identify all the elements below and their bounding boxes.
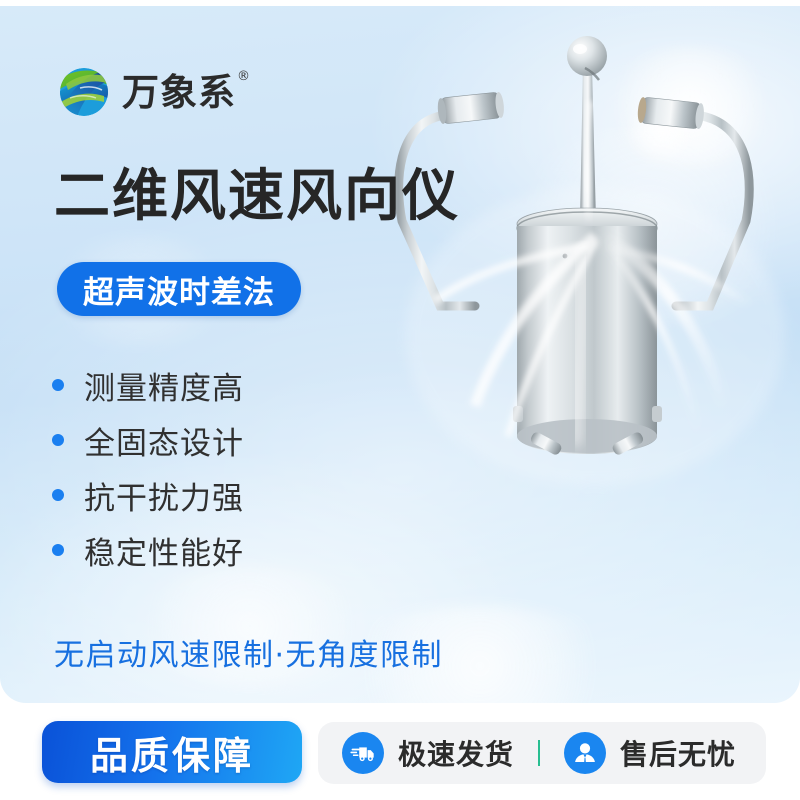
right-transducer	[637, 97, 705, 130]
product-image	[380, 6, 800, 703]
tagline: 无启动风速限制·无角度限制	[54, 630, 443, 674]
dot-icon	[52, 379, 64, 391]
service-label: 极速发货	[398, 733, 514, 773]
dot-icon	[52, 489, 64, 501]
delivery-truck-icon	[342, 732, 384, 774]
anemometer-illustration	[380, 6, 800, 703]
list-item: 测量精度高	[52, 364, 244, 406]
service-item-shipping[interactable]: 极速发货	[318, 732, 538, 774]
feature-label: 稳定性能好	[84, 528, 244, 573]
list-item: 抗干扰力强	[52, 474, 244, 516]
page-title: 二维风速风向仪	[54, 166, 460, 228]
divider	[538, 740, 540, 766]
brand-name: 万象系	[122, 71, 236, 114]
service-label: 售后无忧	[620, 733, 736, 773]
feature-label: 测量精度高	[84, 363, 244, 408]
feature-list: 测量精度高 全固态设计 抗干扰力强 稳定性能好	[52, 364, 244, 571]
product-banner: 万象系 ® 二维风速风向仪 超声波时差法 测量精度高 全固态设计 抗干扰力强	[0, 0, 800, 800]
brand-logo: 万象系 ®	[56, 64, 236, 120]
list-item: 稳定性能好	[52, 529, 244, 571]
feature-label: 全固态设计	[84, 418, 244, 463]
dot-icon	[52, 434, 64, 446]
quality-guarantee-button[interactable]: 品质保障	[42, 721, 302, 783]
service-badges: 极速发货 售后无忧	[318, 722, 766, 784]
list-item: 全固态设计	[52, 419, 244, 461]
left-transducer	[437, 92, 505, 125]
customer-service-person-icon	[564, 732, 606, 774]
dot-icon	[52, 544, 64, 556]
hero-panel: 万象系 ® 二维风速风向仪 超声波时差法 测量精度高 全固态设计 抗干扰力强	[0, 6, 800, 703]
service-item-aftersales[interactable]: 售后无忧	[540, 732, 760, 774]
globe-swirl-logo-icon	[56, 64, 112, 120]
brand-name-wrap: 万象系 ®	[122, 74, 236, 111]
method-badge: 超声波时差法	[57, 262, 301, 316]
feature-label: 抗干扰力强	[84, 473, 244, 518]
registered-mark: ®	[237, 70, 251, 83]
